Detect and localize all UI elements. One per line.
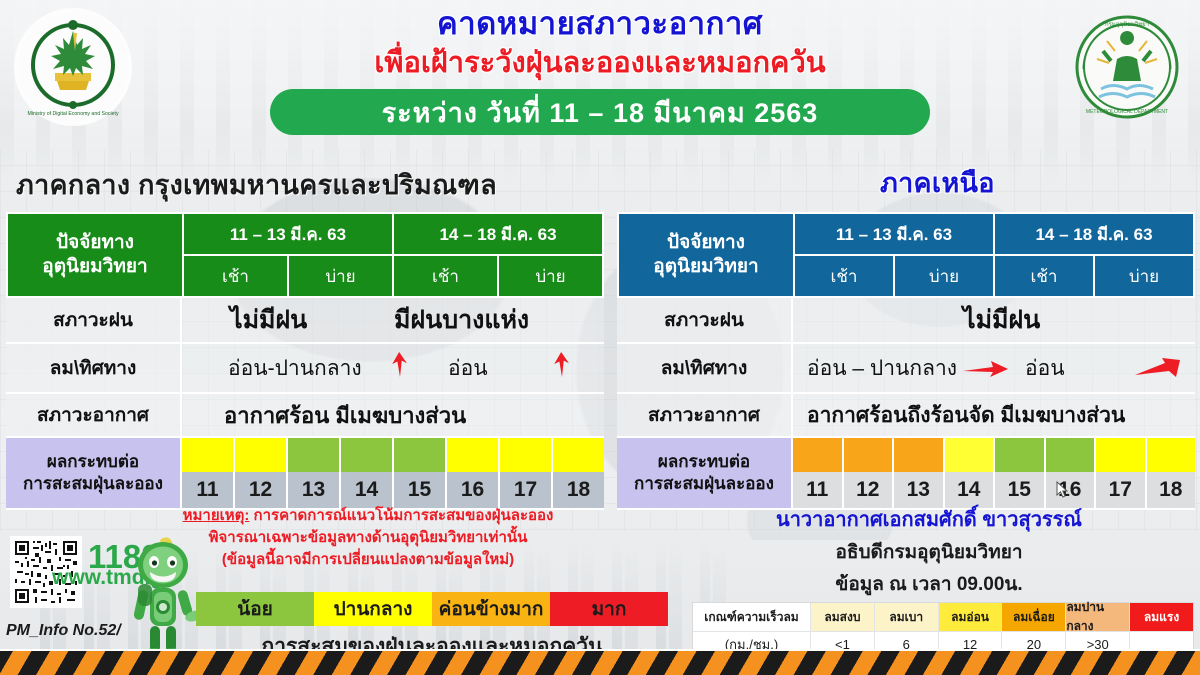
legend-item: ปานกลาง xyxy=(314,592,432,626)
impact-day-cell: 15 xyxy=(394,472,447,508)
wind-direction-arrow-up xyxy=(382,352,418,378)
row-label-wind: ลม\ทิศทาง xyxy=(6,344,182,392)
forecast-table-central: ปัจจัยทาง อุตุนิยมวิทยา 11 – 13 มี.ค. 63… xyxy=(6,212,604,510)
date-group-header: 14 – 18 มี.ค. 63 xyxy=(394,214,602,254)
note-line-1: หมายเหตุ: การคาดการณ์แนวโน้มการสะสมของฝุ… xyxy=(148,505,588,527)
wind-direction-arrow-right xyxy=(963,356,1009,382)
period-header: บ่าย xyxy=(289,256,394,296)
wind-scale-name: ลมสงบ xyxy=(811,603,875,631)
factor-header: ปัจจัยทาง อุตุนิยมวิทยา xyxy=(619,214,795,296)
period-header: บ่าย xyxy=(1095,256,1193,296)
impact-color-cell xyxy=(1147,438,1196,472)
rain-value-2: มีฝนบางแห่ง xyxy=(394,300,529,340)
legend-item: มาก xyxy=(550,592,668,626)
date-range-badge: ระหว่าง วันที่ 11 – 18 มีนาคม 2563 xyxy=(270,89,930,135)
table-row: สภาวะฝน ไม่มีฝน xyxy=(617,298,1195,344)
wind-scale-name: ลมปานกลาง xyxy=(1066,603,1130,631)
wind-scale-name: ลมอ่อน xyxy=(939,603,1003,631)
wind-direction-arrow-up xyxy=(544,352,580,378)
pm-info-number: PM_Info No.52/ xyxy=(6,622,121,640)
table-header-north: ปัจจัยทาง อุตุนิยมวิทยา 11 – 13 มี.ค. 63… xyxy=(617,212,1195,298)
weather-value-1: อากาศร้อนถึงร้อนจัด มีเมฆบางส่วน xyxy=(807,399,1125,432)
factor-header: ปัจจัยทาง อุตุนิยมวิทยา xyxy=(8,214,184,296)
impact-color-cell xyxy=(945,438,996,472)
data-timestamp: ข้อมูล ณ เวลา 09.00น. xyxy=(714,569,1144,599)
signature-block: นาวาอากาศเอกสมศักดิ์ ขาวสุวรรณ์ อธิบดีกร… xyxy=(714,503,1144,599)
header-titles: คาดหมายสภาวะอากาศ เพื่อเฝ้าระวังฝุ่นละออ… xyxy=(230,6,970,135)
impact-color-cell xyxy=(341,438,394,472)
period-header: เช้า xyxy=(184,256,289,296)
period-header: บ่าย xyxy=(499,256,602,296)
wind-value-1: อ่อน – ปานกลาง xyxy=(807,352,957,385)
impact-color-cell xyxy=(995,438,1046,472)
svg-text:Ministry of Digital Economy an: Ministry of Digital Economy and Society xyxy=(27,111,119,117)
row-label-rain: สภาวะฝน xyxy=(617,298,793,342)
period-header: เช้า xyxy=(795,256,895,296)
director-name: นาวาอากาศเอกสมศักดิ์ ขาวสุวรรณ์ xyxy=(714,503,1144,535)
impact-color-cell xyxy=(447,438,500,472)
impact-day-cell: 17 xyxy=(500,472,553,508)
wind-value-1: อ่อน-ปานกลาง xyxy=(228,352,362,385)
infographic-page: Ministry of Digital Economy and Society … xyxy=(0,0,1200,675)
note-prefix: หมายเหตุ: xyxy=(183,507,250,524)
legend-item: ค่อนข้างมาก xyxy=(432,592,550,626)
impact-day-cell: 13 xyxy=(288,472,341,508)
date-group-header: 11 – 13 มี.ค. 63 xyxy=(795,214,995,254)
table-row: สภาวะอากาศ อากาศร้อนถึงร้อนจัด มีเมฆบางส… xyxy=(617,394,1195,438)
impact-day-cell: 18 xyxy=(553,472,604,508)
table-row: ลม\ทิศทาง อ่อน-ปานกลาง อ่อน xyxy=(6,344,604,394)
row-label-wind: ลม\ทิศทาง xyxy=(617,344,793,392)
rain-value-1: ไม่มีฝน xyxy=(963,300,1040,340)
period-header: บ่าย xyxy=(895,256,995,296)
thai-meteorological-department-logo: กรมอุตุนิยมวิทยา METEOROLOGICAL DEPARTME… xyxy=(1068,8,1186,126)
wind-scale-name: ลมเบา xyxy=(875,603,939,631)
impact-color-cell xyxy=(235,438,288,472)
legend-item: น้อย xyxy=(196,592,314,626)
region-heading-central: ภาคกลาง กรุงเทพมหานครและปริมณฑล xyxy=(16,163,497,206)
table-row: ลม\ทิศทาง อ่อน – ปานกลาง อ่อน xyxy=(617,344,1195,394)
mouse-cursor xyxy=(1056,481,1070,499)
svg-text:กรมอุตุนิยมวิทยา: กรมอุตุนิยมวิทยา xyxy=(1105,21,1149,28)
date-group-header: 14 – 18 มี.ค. 63 xyxy=(995,214,1193,254)
forecast-table-north: ปัจจัยทาง อุตุนิยมวิทยา 11 – 13 มี.ค. 63… xyxy=(617,212,1195,510)
impact-color-cell xyxy=(1096,438,1147,472)
impact-color-cell xyxy=(1046,438,1097,472)
impact-day-cell: 12 xyxy=(235,472,288,508)
dust-impact-row-central: ผลกระทบต่อ การสะสมฝุ่นละออง 111213141516… xyxy=(6,438,604,510)
impact-label: ผลกระทบต่อ การสะสมฝุ่นละออง xyxy=(617,438,793,508)
row-label-weather: สภาวะอากาศ xyxy=(617,394,793,436)
wind-scale-name: ลมเฉื่อย xyxy=(1002,603,1066,631)
row-label-rain: สภาวะฝน xyxy=(6,298,182,342)
director-position: อธิบดีกรมอุตุนิยมวิทยา xyxy=(714,537,1144,567)
impact-color-strip xyxy=(793,438,1195,472)
page-title: คาดหมายสภาวะอากาศ xyxy=(230,6,970,42)
weather-value-1: อากาศร้อน มีเมฆบางส่วน xyxy=(224,398,466,433)
impact-color-cell xyxy=(288,438,341,472)
table-row: สภาวะฝน ไม่มีฝน มีฝนบางแห่ง xyxy=(6,298,604,344)
impact-color-strip xyxy=(182,438,604,472)
region-heading-north: ภาคเหนือ xyxy=(880,161,995,204)
date-group-header: 11 – 13 มี.ค. 63 xyxy=(184,214,394,254)
dust-impact-row-north: ผลกระทบต่อ การสะสมฝุ่นละออง 111213141516… xyxy=(617,438,1195,510)
impact-color-cell xyxy=(793,438,844,472)
impact-day-strip: 1112131415161718 xyxy=(182,472,604,508)
impact-color-cell xyxy=(182,438,235,472)
wind-value-2: อ่อน xyxy=(1025,352,1065,385)
impact-day-cell: 14 xyxy=(341,472,394,508)
wind-scale-header: เกณฑ์ความเร็วลม xyxy=(693,603,811,631)
impact-color-cell xyxy=(553,438,604,472)
impact-color-cell xyxy=(394,438,447,472)
period-header: เช้า xyxy=(995,256,1095,296)
period-header: เช้า xyxy=(394,256,499,296)
impact-label: ผลกระทบต่อ การสะสมฝุ่นละออง xyxy=(6,438,182,508)
row-label-weather: สภาวะอากาศ xyxy=(6,394,182,436)
rain-value-1: ไม่มีฝน xyxy=(230,300,307,340)
wind-scale-name: ลมแรง xyxy=(1130,603,1193,631)
svg-text:METEOROLOGICAL DEPARTMENT: METEOROLOGICAL DEPARTMENT xyxy=(1086,109,1168,115)
impact-day-cell: 18 xyxy=(1147,472,1196,508)
impact-day-cell: 11 xyxy=(182,472,235,508)
page-subtitle: เพื่อเฝ้าระวังฝุ่นละอองและหมอกควัน xyxy=(230,46,970,81)
impact-color-cell xyxy=(894,438,945,472)
wind-value-2: อ่อน xyxy=(448,352,488,385)
table-row: สภาวะอากาศ อากาศร้อน มีเมฆบางส่วน xyxy=(6,394,604,438)
impact-color-cell xyxy=(844,438,895,472)
wind-scale-names-row: เกณฑ์ความเร็วลมลมสงบลมเบาลมอ่อนลมเฉื่อยล… xyxy=(693,603,1193,631)
impact-day-cell: 16 xyxy=(447,472,500,508)
legend-color-bar: น้อยปานกลางค่อนข้างมากมาก xyxy=(196,592,668,626)
table-header-central: ปัจจัยทาง อุตุนิยมวิทยา 11 – 13 มี.ค. 63… xyxy=(6,212,604,298)
wind-direction-arrow-right xyxy=(1135,354,1181,380)
ministry-of-digital-economy-and-society-logo: Ministry of Digital Economy and Society xyxy=(14,8,132,126)
impact-color-cell xyxy=(500,438,553,472)
hazard-stripe-border xyxy=(0,649,1200,675)
